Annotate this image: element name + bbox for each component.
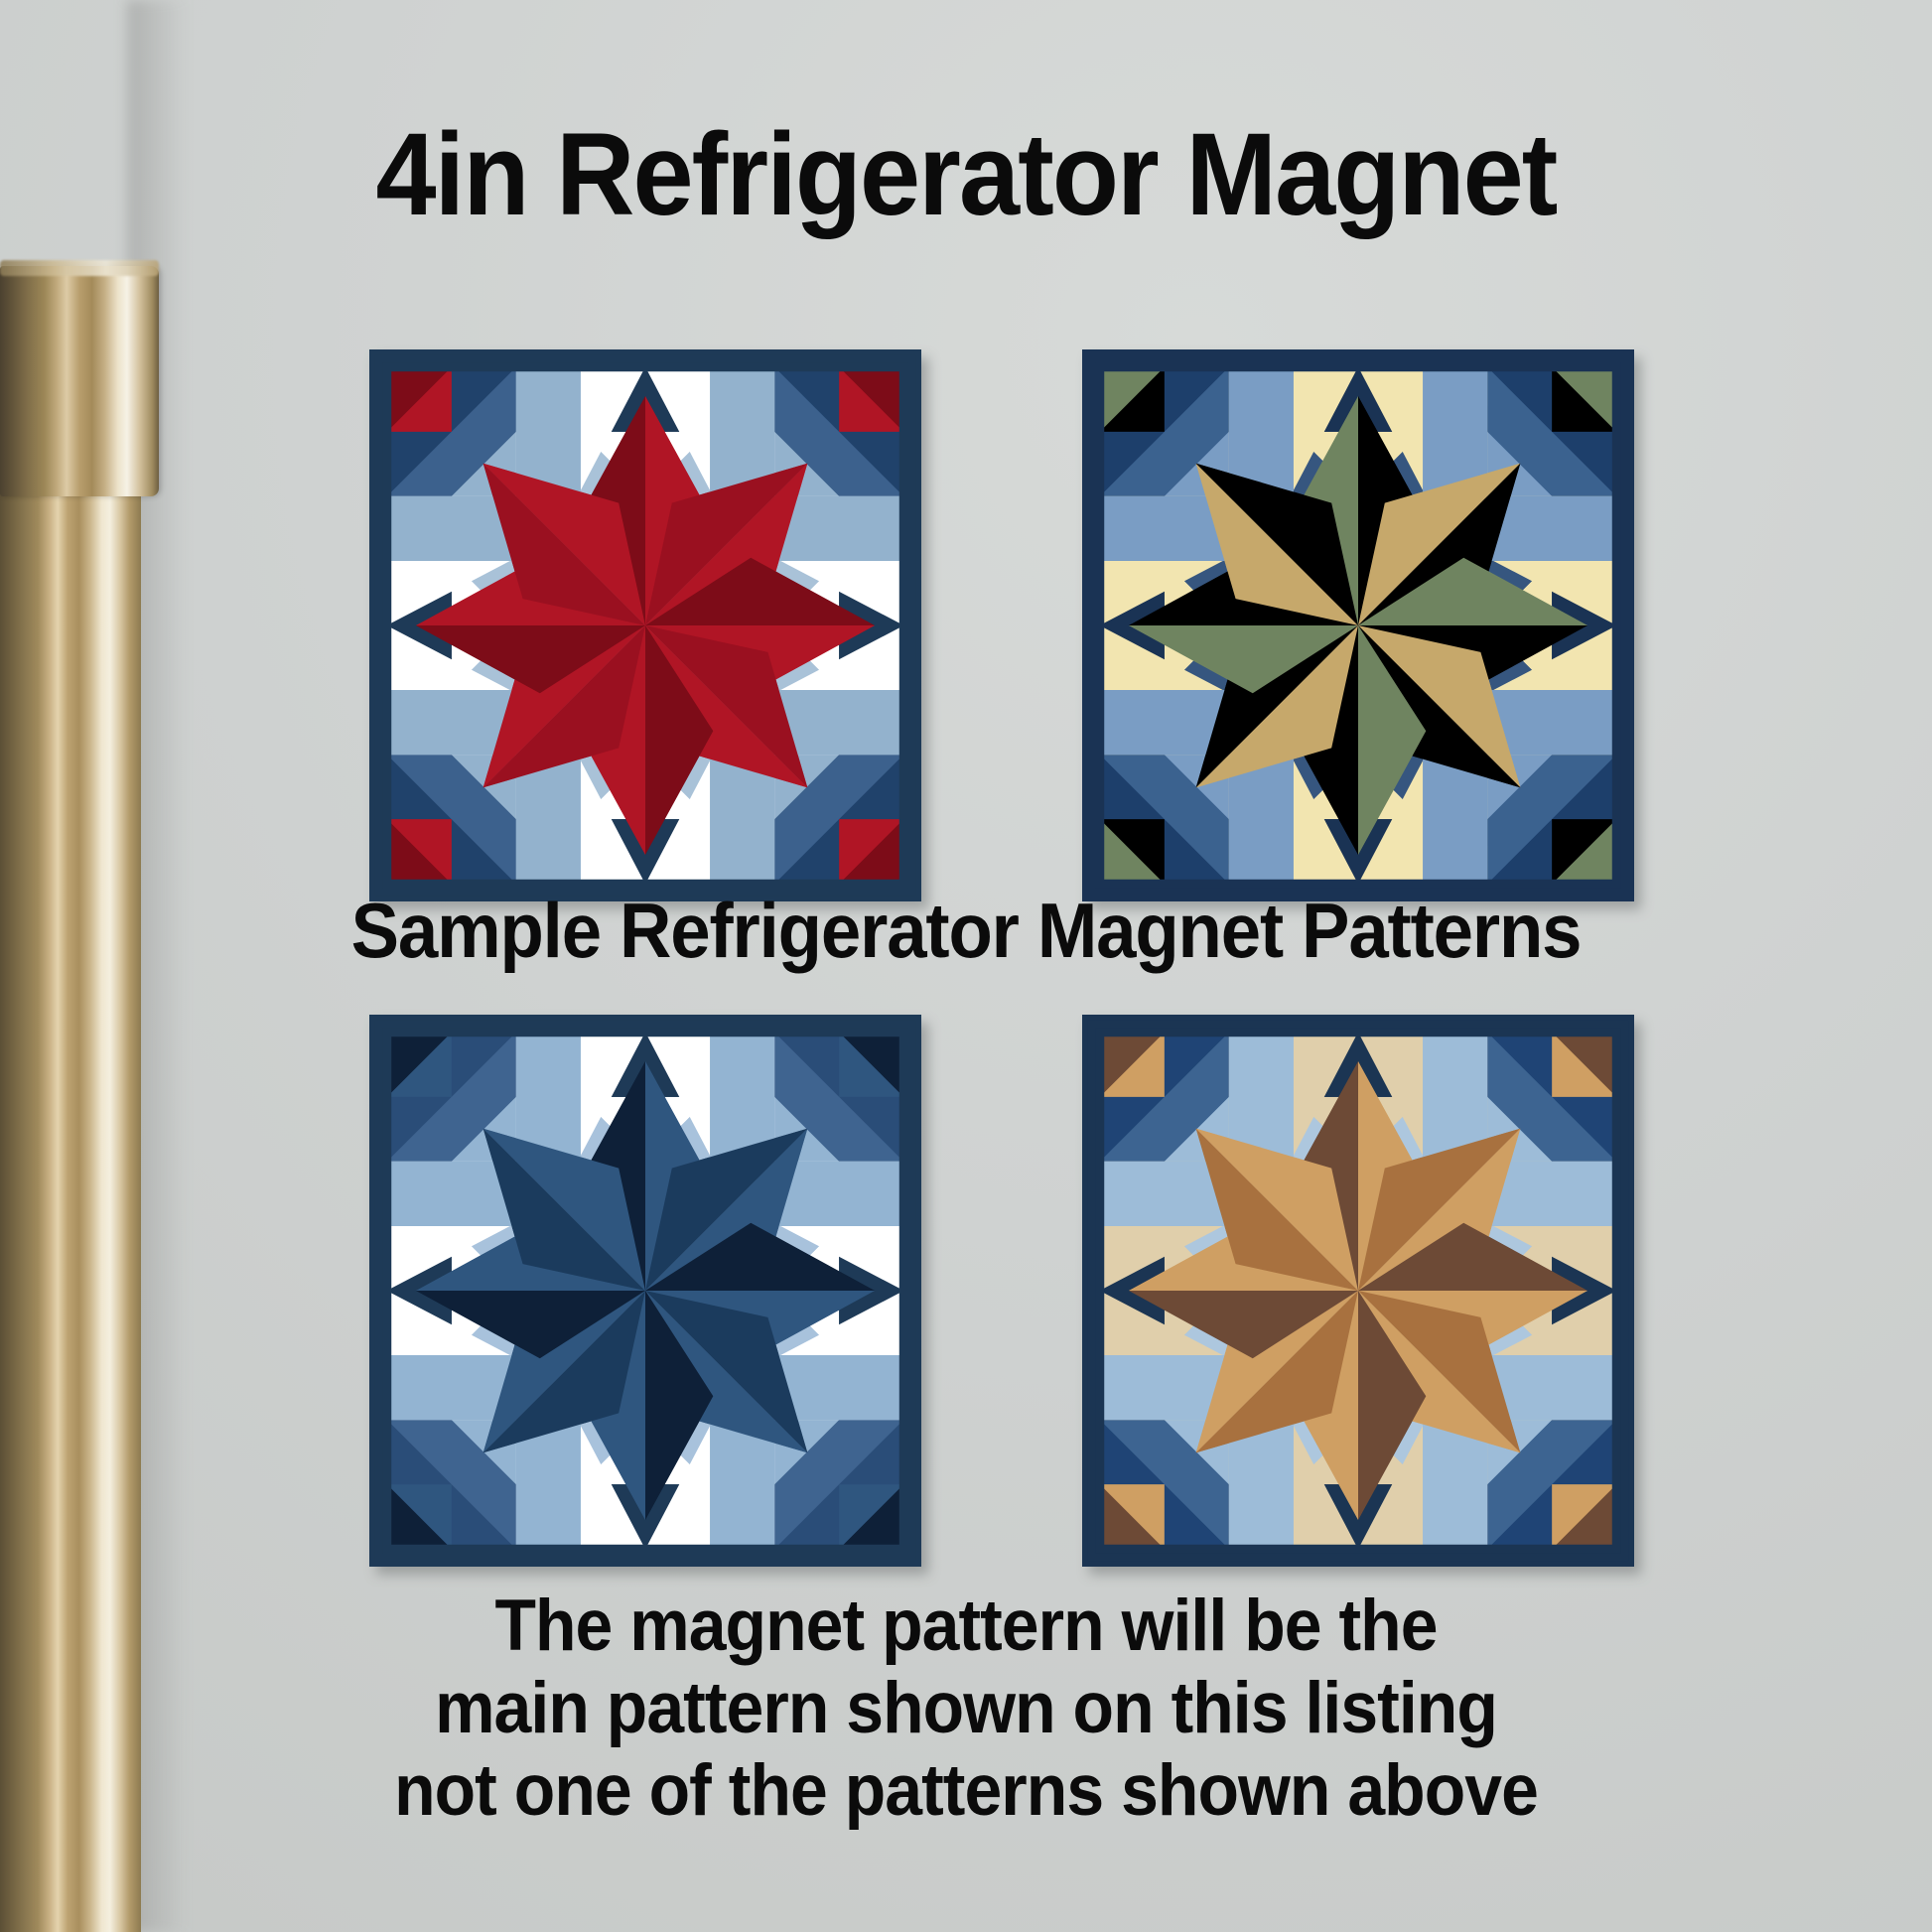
footer-line-3: not one of the patterns shown above (68, 1749, 1864, 1832)
footer-note: The magnet pattern will be the main patt… (68, 1585, 1864, 1833)
page-background: 4in Refrigerator Magnet Sample Refrigera… (0, 0, 1932, 1932)
quilt-block-cream-olive-blue (1082, 349, 1634, 901)
sample-patterns-caption: Sample Refrigerator Magnet Patterns (68, 892, 1864, 969)
quilt-block-tan-brown-blue (1082, 1015, 1634, 1567)
quilt-block-red-white-blue (369, 349, 921, 901)
brass-rod-cap-highlight (0, 260, 159, 276)
footer-line-1: The magnet pattern will be the (68, 1585, 1864, 1667)
page-title: 4in Refrigerator Magnet (68, 115, 1864, 234)
quilt-block-all-blue (369, 1015, 921, 1567)
brass-rod-cap (0, 266, 159, 496)
footer-line-2: main pattern shown on this listing (68, 1667, 1864, 1749)
